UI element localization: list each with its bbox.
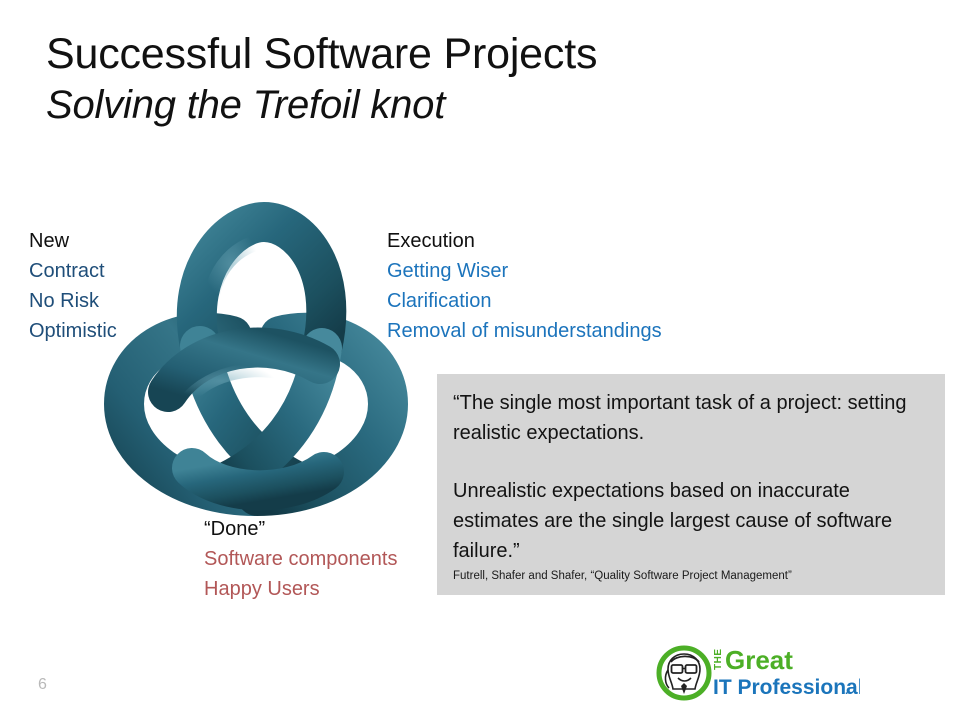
title-line-primary: Successful Software Projects — [46, 28, 746, 80]
label-happy-users: Happy Users — [204, 574, 397, 604]
quote-spacer — [453, 448, 929, 476]
slide-canvas: Successful Software Projects Solving the… — [0, 0, 960, 720]
page-title: Successful Software Projects Solving the… — [46, 28, 746, 130]
label-group-right: Execution Getting Wiser Clarification Re… — [387, 226, 662, 346]
label-group-bottom: “Done” Software components Happy Users — [204, 514, 397, 604]
quote-callout-box: “The single most important task of a pro… — [437, 374, 945, 595]
page-number: 6 — [38, 676, 47, 694]
logo-mark-icon — [659, 648, 709, 698]
logo-it-professional: IT Professional — [713, 676, 860, 699]
title-line-subtitle: Solving the Trefoil knot — [46, 80, 746, 130]
label-group-left: New Contract No Risk Optimistic — [29, 226, 117, 346]
label-software-components: Software components — [204, 544, 397, 574]
logo-great: Great — [725, 645, 793, 675]
label-contract: Contract — [29, 256, 117, 286]
quote-paragraph-2: Unrealistic expectations based on inaccu… — [453, 476, 929, 566]
label-new: New — [29, 226, 117, 256]
label-execution: Execution — [387, 226, 662, 256]
brand-logo: THE Great IT Professional . — [655, 642, 860, 704]
logo-trademark: . — [845, 685, 848, 697]
label-done: “Done” — [204, 514, 397, 544]
label-removal-of-misunderstandings: Removal of misunderstandings — [387, 316, 662, 346]
label-clarification: Clarification — [387, 286, 662, 316]
trefoil-knot-graphic — [72, 196, 440, 526]
label-getting-wiser: Getting Wiser — [387, 256, 662, 286]
logo-the: THE — [713, 649, 724, 671]
label-optimistic: Optimistic — [29, 316, 117, 346]
label-no-risk: No Risk — [29, 286, 117, 316]
quote-attribution: Futrell, Shafer and Shafer, “Quality Sof… — [453, 568, 929, 584]
quote-paragraph-1: “The single most important task of a pro… — [453, 388, 929, 448]
